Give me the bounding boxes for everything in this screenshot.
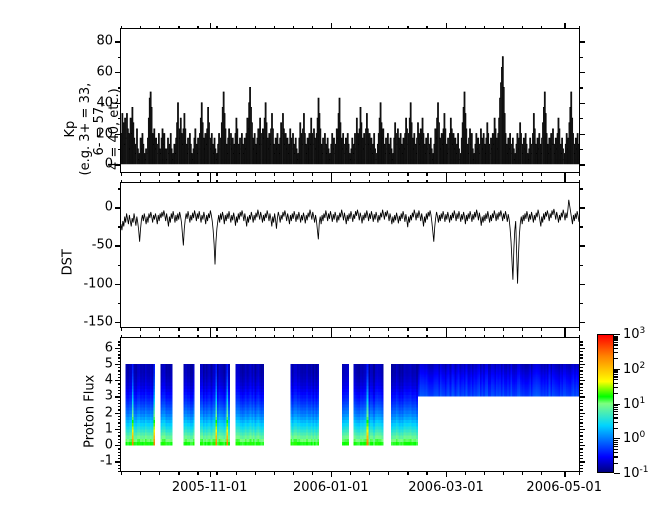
x-tick-minor-top: [541, 26, 542, 30]
heatmap-cell: [153, 420, 155, 423]
x-tick-minor-top: [274, 26, 275, 30]
heatmap-cell: [228, 398, 230, 401]
x-tick-major-top: [331, 23, 332, 29]
x-tick-minor: [312, 327, 313, 331]
heatmap-cell: [381, 401, 383, 404]
heatmap-cell: [193, 408, 195, 411]
x-tick-minor-top: [465, 180, 466, 184]
y-tick-major-right: [579, 245, 585, 246]
x-tick-minor-top: [484, 26, 485, 30]
x-tick-minor: [484, 172, 485, 176]
heatmap-cell: [381, 426, 383, 429]
heatmap-cell: [171, 417, 173, 420]
heatmap-cell: [228, 433, 230, 436]
heatmap-cell: [347, 395, 349, 398]
heatmap-cell: [317, 436, 319, 439]
x-tick-minor-top: [369, 180, 370, 184]
x-tick-minor: [369, 327, 370, 331]
heatmap-cell: [381, 395, 383, 398]
y-tick-major-right: [579, 103, 585, 104]
heatmap-cell: [262, 367, 264, 370]
heatmap-cell: [317, 370, 319, 373]
heatmap-cell: [317, 405, 319, 408]
heatmap-cell: [262, 395, 264, 398]
heatmap-cell: [193, 373, 195, 376]
heatmap-cell: [193, 436, 195, 439]
heatmap-cell: [262, 380, 264, 383]
heatmap-cell: [317, 417, 319, 420]
heatmap-cell: [228, 442, 230, 445]
heatmap-cell: [381, 392, 383, 395]
heatmap-cell: [262, 392, 264, 395]
heatmap-cell: [262, 408, 264, 411]
x-tick-minor-top: [426, 180, 427, 184]
heatmap-cell: [153, 433, 155, 436]
heatmap-cell: [262, 364, 264, 367]
kp-trace: [121, 57, 579, 165]
x-tick-minor: [350, 327, 351, 331]
heatmap-cell: [347, 423, 349, 426]
dst-axis-title: DST: [62, 217, 77, 307]
dst-trace: [121, 200, 579, 284]
heatmap-cell: [228, 395, 230, 398]
x-tick-minor: [503, 172, 504, 176]
x-tick-minor: [236, 327, 237, 331]
heatmap-cell: [228, 367, 230, 370]
axis-title-line: 4 = 40, etc.): [108, 64, 123, 194]
x-tick-minor: [274, 172, 275, 176]
heatmap-cell: [262, 386, 264, 389]
heatmap-cell: [193, 392, 195, 395]
x-tick-minor: [197, 172, 198, 176]
heatmap-cell: [416, 408, 418, 411]
x-tick-minor: [216, 327, 217, 331]
heatmap-cell: [153, 376, 155, 379]
x-tick-minor: [465, 172, 466, 176]
heatmap-cell: [171, 376, 173, 379]
heatmap-cell: [171, 442, 173, 445]
x-tick-minor-top: [522, 26, 523, 30]
x-tick-minor-top: [216, 26, 217, 30]
heatmap-cell: [171, 380, 173, 383]
x-tick-minor-top: [159, 26, 160, 30]
heatmap-cell: [193, 398, 195, 401]
x-tick-minor-top: [579, 180, 580, 184]
heatmap-cell: [416, 405, 418, 408]
heatmap-cell: [171, 373, 173, 376]
heatmap-cell: [228, 423, 230, 426]
x-tick-minor: [579, 327, 580, 331]
heatmap-cell: [153, 392, 155, 395]
heatmap-cell: [416, 426, 418, 429]
heatmap-cell: [193, 386, 195, 389]
x-tick-minor: [293, 172, 294, 176]
x-tick-minor: [426, 172, 427, 176]
x-tick-minor-top: [140, 26, 141, 30]
y-tick-minor: [118, 188, 122, 189]
heatmap-cell: [262, 373, 264, 376]
y-tick-minor: [118, 57, 122, 58]
heatmap-cell: [153, 395, 155, 398]
x-tick-minor: [426, 327, 427, 331]
heatmap-cell: [381, 386, 383, 389]
heatmap-cell: [193, 414, 195, 417]
x-tick-minor-top: [407, 26, 408, 30]
x-tick-minor-top: [121, 26, 122, 30]
axis-title-line: 6- = 57,: [93, 64, 108, 194]
heatmap-cell: [153, 423, 155, 426]
heatmap-cell: [262, 376, 264, 379]
heatmap-cell: [416, 429, 418, 432]
x-tick-minor: [255, 327, 256, 331]
heatmap-cell: [416, 420, 418, 423]
y-tick-minor: [118, 303, 122, 304]
x-tick-minor-top: [178, 180, 179, 184]
x-tick-minor-top: [236, 26, 237, 30]
heatmap-cell: [228, 420, 230, 423]
heatmap-cell: [347, 414, 349, 417]
heatmap-cell: [153, 408, 155, 411]
heatmap-cell: [381, 405, 383, 408]
heatmap-cell: [153, 389, 155, 392]
heatmap-cell: [262, 433, 264, 436]
y-tick-minor-right: [579, 149, 583, 150]
x-tick-minor-top: [426, 26, 427, 30]
heatmap-cell: [193, 417, 195, 420]
heatmap-cell: [381, 417, 383, 420]
heatmap-cell: [317, 367, 319, 370]
y-tick-major: [115, 322, 121, 323]
heatmap-cell: [347, 392, 349, 395]
y-tick-minor-right: [579, 118, 583, 119]
y-tick-label: -100: [83, 276, 113, 291]
heatmap-cell: [193, 439, 195, 442]
x-tick-minor-top: [140, 180, 141, 184]
heatmap-cell: [347, 380, 349, 383]
x-tick-minor-top: [312, 180, 313, 184]
kp-axis-title: Kp(e.g. 3+ = 33,6- = 57,4 = 40, etc.): [64, 64, 122, 194]
heatmap-cell: [347, 376, 349, 379]
x-tick-minor: [541, 172, 542, 176]
y-tick-major-right: [579, 322, 585, 323]
y-tick-major-right: [579, 207, 585, 208]
x-tick-minor-top: [255, 26, 256, 30]
heatmap-cell: [228, 370, 230, 373]
heatmap-cell: [228, 386, 230, 389]
x-tick-minor: [140, 327, 141, 331]
heatmap-cell: [171, 401, 173, 404]
heatmap-cell: [171, 436, 173, 439]
kp-series: [121, 29, 579, 172]
x-tick-major-top: [446, 23, 447, 29]
heatmap-cell: [416, 411, 418, 414]
heatmap-cell: [228, 383, 230, 386]
x-tick-minor-top: [312, 26, 313, 30]
x-tick-minor-top: [178, 26, 179, 30]
heatmap-cell: [317, 376, 319, 379]
y-tick-major-right: [579, 164, 585, 165]
x-tick-minor: [369, 172, 370, 176]
proton-flux-heatmap: [121, 338, 579, 471]
y-tick-minor-right: [579, 226, 583, 227]
axis-title-line: DST: [62, 217, 77, 307]
heatmap-cell: [381, 436, 383, 439]
heatmap-cell: [347, 373, 349, 376]
heatmap-cell: [317, 429, 319, 432]
heatmap-cell: [317, 380, 319, 383]
x-tick-minor: [407, 172, 408, 176]
y-tick-major-right: [579, 134, 585, 135]
heatmap-cell: [317, 364, 319, 367]
y-tick-label: -50: [92, 238, 113, 253]
heatmap-cell: [153, 405, 155, 408]
heatmap-cell: [171, 408, 173, 411]
heatmap-cell: [171, 370, 173, 373]
x-tick-minor: [503, 327, 504, 331]
heatmap-cell: [193, 411, 195, 414]
heatmap-cell: [416, 417, 418, 420]
heatmap-cell: [193, 395, 195, 398]
heatmap-cell: [153, 429, 155, 432]
heatmap-cell: [193, 423, 195, 426]
heatmap-cell: [381, 433, 383, 436]
x-tick-minor: [236, 172, 237, 176]
heatmap-cell: [262, 398, 264, 401]
x-tick-minor-top: [121, 180, 122, 184]
heatmap-cell: [347, 383, 349, 386]
heatmap-cell: [262, 401, 264, 404]
heatmap-cell: [171, 389, 173, 392]
x-tick-minor-top: [503, 180, 504, 184]
x-tick-minor: [178, 327, 179, 331]
heatmap-cell: [228, 380, 230, 383]
x-tick-minor-top: [484, 180, 485, 184]
heatmap-cell: [347, 405, 349, 408]
x-tick-minor: [388, 172, 389, 176]
heatmap-cell: [153, 398, 155, 401]
heatmap-cell: [262, 370, 264, 373]
heatmap-cell: [228, 429, 230, 432]
x-tick-minor-top: [350, 26, 351, 30]
heatmap-cell: [347, 367, 349, 370]
heatmap-cell: [193, 367, 195, 370]
heatmap-cell: [262, 411, 264, 414]
x-tick-minor-top: [541, 180, 542, 184]
heatmap-cell: [171, 386, 173, 389]
heatmap-cell: [193, 442, 195, 445]
x-tick-minor: [140, 172, 141, 176]
heatmap-cell: [381, 439, 383, 442]
heatmap-cell: [381, 420, 383, 423]
x-tick-minor: [121, 327, 122, 331]
heatmap-cell: [317, 383, 319, 386]
heatmap-cell: [153, 411, 155, 414]
heatmap-cell: [153, 401, 155, 404]
y-tick-label: 0: [105, 200, 113, 215]
heatmap-cell: [171, 398, 173, 401]
y-tick-minor-right: [579, 303, 583, 304]
heatmap-cell: [171, 364, 173, 367]
x-tick-minor-top: [388, 26, 389, 30]
heatmap-cell: [171, 414, 173, 417]
heatmap-cell: [171, 405, 173, 408]
x-tick-minor: [579, 172, 580, 176]
x-tick-minor-top: [293, 180, 294, 184]
heatmap-cell: [381, 411, 383, 414]
heatmap-cell: [262, 405, 264, 408]
heatmap-cell: [228, 411, 230, 414]
heatmap-cell: [171, 367, 173, 370]
heatmap-cell: [416, 423, 418, 426]
x-tick-minor-top: [274, 180, 275, 184]
x-tick-minor: [293, 327, 294, 331]
heatmap-cell: [193, 401, 195, 404]
y-tick-minor: [118, 265, 122, 266]
heatmap-cell: [153, 367, 155, 370]
heatmap-cell: [228, 392, 230, 395]
heatmap-cell: [381, 389, 383, 392]
heatmap-cell: [153, 373, 155, 376]
x-tick-minor-top: [407, 180, 408, 184]
heatmap-cell: [153, 417, 155, 420]
heatmap-cell: [193, 433, 195, 436]
x-tick-minor: [484, 327, 485, 331]
heatmap-cell: [262, 439, 264, 442]
x-tick-minor: [312, 172, 313, 176]
heatmap-cell: [262, 420, 264, 423]
heatmap-cell: [171, 411, 173, 414]
heatmap-cell: [317, 392, 319, 395]
x-tick-minor: [522, 327, 523, 331]
x-tick-minor: [407, 327, 408, 331]
heatmap-cell: [381, 398, 383, 401]
x-tick-minor: [388, 327, 389, 331]
heatmap-cell: [171, 395, 173, 398]
x-tick-minor-top: [388, 180, 389, 184]
y-tick-minor-right: [579, 188, 583, 189]
heatmap-cell: [317, 426, 319, 429]
heatmap-cell: [347, 426, 349, 429]
x-tick-major-top: [331, 177, 332, 183]
heatmap-cell: [228, 439, 230, 442]
y-tick-major: [115, 207, 121, 208]
heatmap-cell: [153, 386, 155, 389]
heatmap-cell: [416, 442, 418, 445]
heatmap-cell: [347, 364, 349, 367]
heatmap-cell: [381, 376, 383, 379]
heatmap-cell: [347, 417, 349, 420]
heatmap-cell: [171, 429, 173, 432]
heatmap-cell: [317, 442, 319, 445]
heatmap-cell: [416, 433, 418, 436]
x-tick-minor-top: [293, 26, 294, 30]
heatmap-cell: [317, 389, 319, 392]
y-tick-minor: [118, 226, 122, 227]
heatmap-cell: [171, 383, 173, 386]
x-tick-minor-top: [503, 26, 504, 30]
axis-title-line: Kp: [64, 64, 79, 194]
heatmap-cell: [153, 364, 155, 367]
heatmap-cell: [381, 367, 383, 370]
heatmap-cell: [153, 426, 155, 429]
heatmap-cell: [193, 376, 195, 379]
x-tick-minor-top: [350, 180, 351, 184]
heatmap-cell: [153, 414, 155, 417]
x-tick-minor: [197, 327, 198, 331]
y-tick-label: 80: [96, 34, 113, 49]
heatmap-cell: [347, 439, 349, 442]
heatmap-cell: [153, 442, 155, 445]
y-tick-major-right: [579, 41, 585, 42]
heatmap-cell: [347, 420, 349, 423]
heatmap-cell: [381, 373, 383, 376]
heatmap-cell: [193, 389, 195, 392]
x-tick-minor: [465, 327, 466, 331]
x-tick-major-top: [564, 23, 565, 29]
heatmap-cell: [317, 439, 319, 442]
heatmap-cell: [193, 405, 195, 408]
heatmap-cell: [262, 389, 264, 392]
x-tick-minor-top: [197, 26, 198, 30]
heatmap-cell: [193, 383, 195, 386]
x-tick-minor: [159, 327, 160, 331]
heatmap-cell: [381, 383, 383, 386]
y-tick-major: [115, 284, 121, 285]
heatmap-cell: [171, 433, 173, 436]
x-tick-minor-top: [255, 180, 256, 184]
heatmap-cell: [416, 439, 418, 442]
heatmap-cell: [193, 364, 195, 367]
proton-flux-panel: -10123456 2005-11-012006-01-012006-03-01…: [120, 337, 580, 472]
heatmap-cell: [416, 436, 418, 439]
x-tick-minor-top: [465, 26, 466, 30]
heatmap-cell: [381, 423, 383, 426]
y-tick-major: [115, 245, 121, 246]
heatmap-cell: [228, 436, 230, 439]
y-tick-major: [115, 41, 121, 42]
x-tick-minor: [255, 172, 256, 176]
heatmap-cell: [262, 414, 264, 417]
heatmap-cell: [381, 408, 383, 411]
heatmap-cell: [228, 408, 230, 411]
dst-panel: 0-50-100-150: [120, 182, 580, 328]
heatmap-cell: [317, 401, 319, 404]
heatmap-cell: [317, 420, 319, 423]
heatmap-cell: [347, 386, 349, 389]
x-tick-major-top: [446, 177, 447, 183]
heatmap-cell: [317, 373, 319, 376]
heatmap-cell: [317, 398, 319, 401]
heatmap-cell: [228, 389, 230, 392]
x-tick-minor: [216, 172, 217, 176]
heatmap-cell: [262, 436, 264, 439]
heatmap-cell: [317, 411, 319, 414]
x-tick-major-top: [210, 177, 211, 183]
dst-series: [121, 183, 579, 327]
x-tick-minor: [274, 327, 275, 331]
heatmap-cell: [347, 401, 349, 404]
heatmap-cell: [228, 401, 230, 404]
heatmap-cell: [193, 426, 195, 429]
x-tick-minor: [159, 172, 160, 176]
heatmap-cell: [153, 370, 155, 373]
heatmap-cell: [381, 429, 383, 432]
x-tick-minor: [350, 172, 351, 176]
heatmap-cell: [416, 414, 418, 417]
heatmap-cell: [262, 383, 264, 386]
x-tick-minor-top: [216, 180, 217, 184]
x-tick-major-top: [564, 177, 565, 183]
